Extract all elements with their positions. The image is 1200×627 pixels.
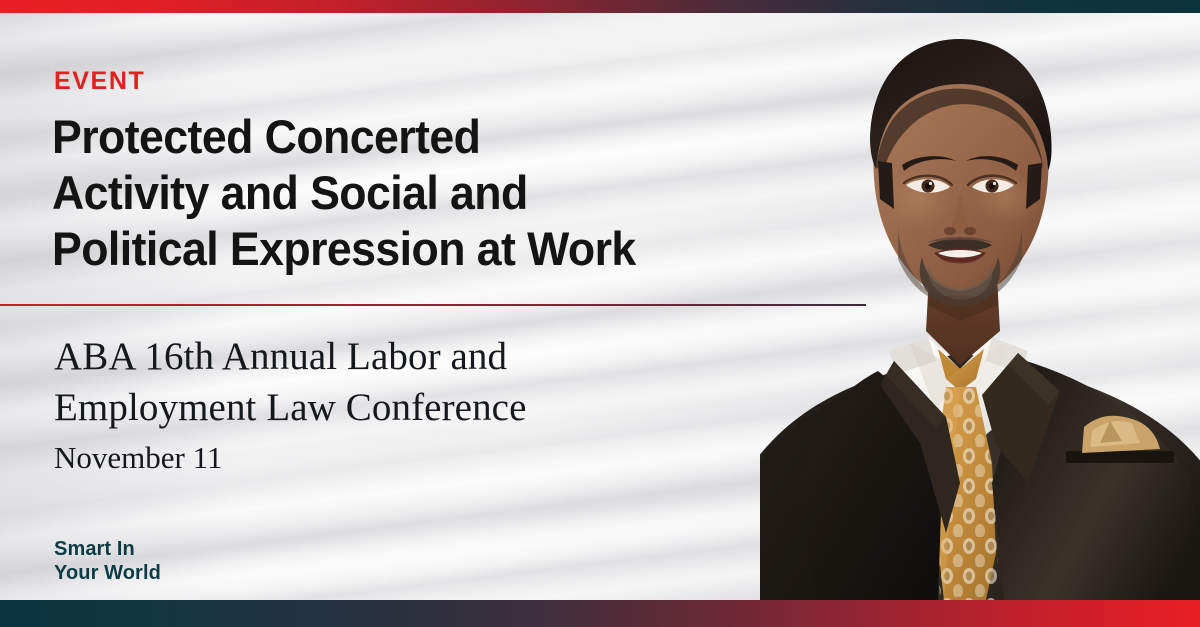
subtitle-line-2: Employment Law Conference <box>54 382 774 433</box>
title-divider <box>0 304 866 306</box>
page-title: Protected Concerted Activity and Social … <box>52 109 803 277</box>
headline-line-2: Activity and Social and <box>52 165 803 221</box>
tagline-line-2: Your World <box>54 561 161 585</box>
bottom-gradient-bar <box>0 600 1200 627</box>
event-subtitle: ABA 16th Annual Labor and Employment Law… <box>54 331 774 433</box>
subtitle-line-1: ABA 16th Annual Labor and <box>54 331 774 382</box>
event-date: November 11 <box>54 438 222 478</box>
top-gradient-bar <box>0 0 1200 13</box>
brand-tagline: Smart In Your World <box>54 537 161 585</box>
tagline-line-1: Smart In <box>54 537 161 561</box>
speaker-portrait <box>760 13 1200 600</box>
eyebrow-label: EVENT <box>54 69 145 94</box>
headline-line-1: Protected Concerted <box>52 109 803 165</box>
text-content: EVENT Protected Concerted Activity and S… <box>54 13 834 600</box>
headline-line-3: Political Expression at Work <box>52 221 803 277</box>
event-promo-banner: EVENT Protected Concerted Activity and S… <box>0 0 1200 627</box>
